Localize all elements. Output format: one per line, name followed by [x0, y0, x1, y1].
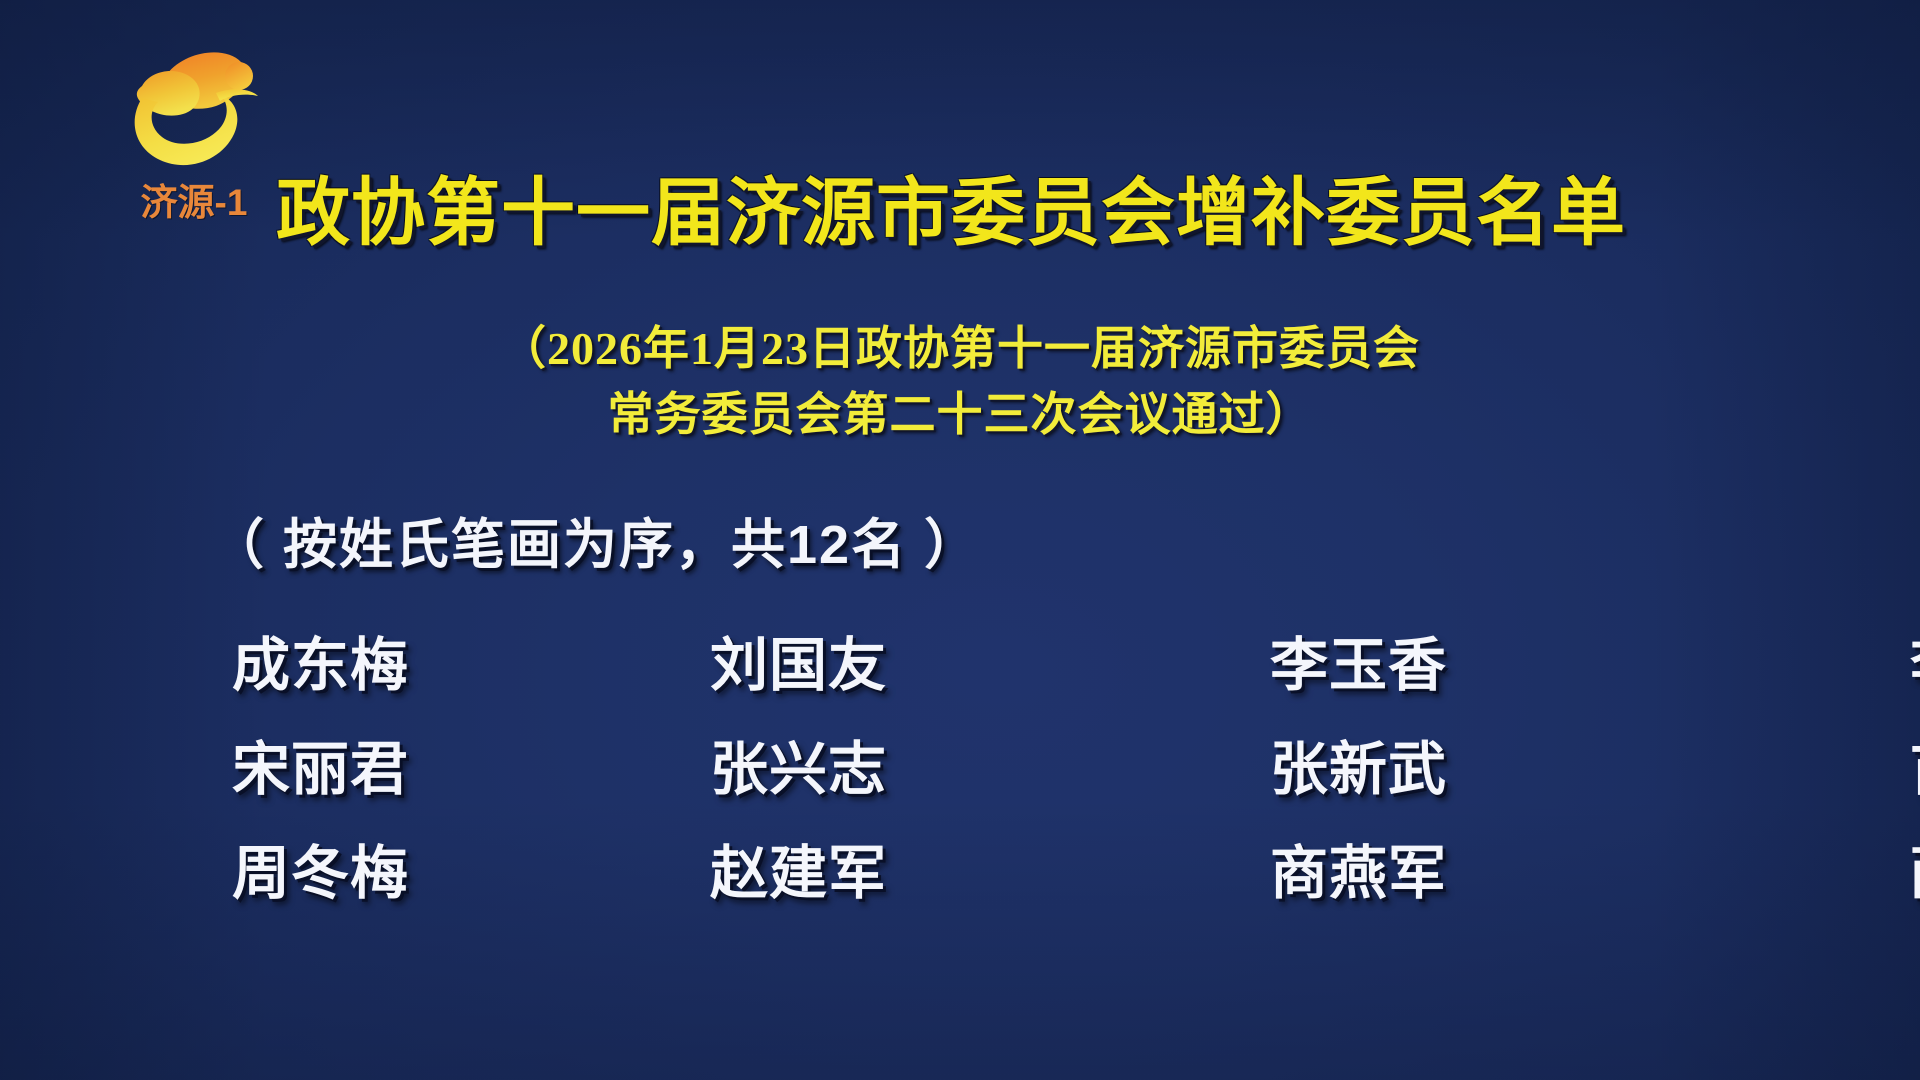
page-title: 政协第十一届济源市委员会增补委员名单	[276, 176, 1626, 250]
subtitle-line-1: （2026年1月23日政协第十一届济源市委员会	[0, 316, 1920, 382]
name-entry: 张兴志	[632, 735, 1110, 805]
slide-header: 济源-1 政协第十一届济源市委员会增补委员名单	[0, 28, 1920, 233]
broadcast-slide: 济源-1 政协第十一届济源市委员会增补委员名单 （2026年1月23日政协第十一…	[0, 0, 1920, 1080]
name-entry: 成东梅	[232, 631, 632, 701]
ordering-note: （ 按姓氏笔画为序，共12名 ）	[210, 512, 980, 580]
name-row: 成东梅 刘国友 李玉香 李晓斌	[232, 614, 1682, 718]
name-entry: 赵建军	[632, 839, 1110, 909]
name-entry: 李晓斌	[1670, 631, 1920, 701]
name-row: 宋丽君 张兴志 张新武 苗 萱	[232, 718, 1682, 822]
name-entry: 苗 萱	[1670, 735, 1920, 805]
name-entry: 商燕军	[1110, 839, 1670, 909]
name-entry: 宋丽君	[232, 735, 632, 805]
name-entry: 刘国友	[632, 631, 1110, 701]
name-entry: 薛树家	[1670, 839, 1920, 909]
channel-logo-label: 济源-1	[104, 172, 284, 226]
butterfly-logo-icon	[112, 38, 280, 178]
name-row: 周冬梅 赵建军 商燕军 薛树家	[232, 822, 1682, 926]
channel-logo: 济源-1	[104, 38, 284, 228]
subtitle-line-2: 常务委员会第二十三次会议通过）	[0, 382, 1920, 448]
name-entry: 周冬梅	[232, 839, 632, 909]
subtitle-block: （2026年1月23日政协第十一届济源市委员会 常务委员会第二十三次会议通过）	[0, 316, 1920, 448]
name-list: 成东梅 刘国友 李玉香 李晓斌 宋丽君 张兴志 张新武 苗 萱 周冬梅 赵建军 …	[232, 614, 1682, 926]
name-entry: 李玉香	[1110, 631, 1670, 701]
name-entry: 张新武	[1110, 735, 1670, 805]
